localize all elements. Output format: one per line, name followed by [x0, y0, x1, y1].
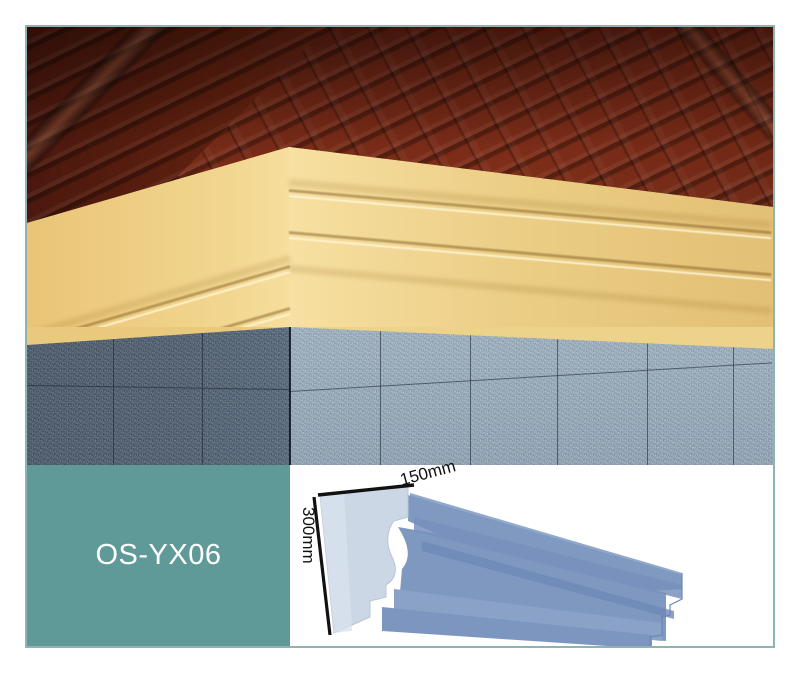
product-code-panel: OS-YX06 — [27, 465, 290, 646]
wall-grid-line — [113, 327, 114, 465]
product-photo — [27, 27, 773, 465]
dimension-label-height: 300mm — [298, 507, 318, 564]
tiled-wall — [27, 327, 773, 465]
wall-grid-line — [557, 327, 558, 465]
profile-diagram-panel: 150mm 300mm — [290, 465, 773, 646]
wall-grid-line — [470, 327, 471, 465]
wall-right-face — [290, 327, 773, 465]
wall-grid-line — [647, 327, 648, 465]
wall-corner-edge — [289, 327, 291, 465]
wall-grid-line — [202, 327, 203, 465]
wall-grid-line — [380, 327, 381, 465]
wall-grid-line — [733, 327, 734, 465]
wall-left-face — [27, 327, 290, 465]
page-root: OS-YX06 — [0, 0, 800, 687]
product-frame: OS-YX06 — [25, 25, 775, 648]
bottom-strip: OS-YX06 — [27, 465, 773, 646]
cornice-profile-drawing — [290, 465, 773, 646]
product-code-label: OS-YX06 — [96, 539, 222, 572]
moulding-body — [382, 493, 682, 646]
